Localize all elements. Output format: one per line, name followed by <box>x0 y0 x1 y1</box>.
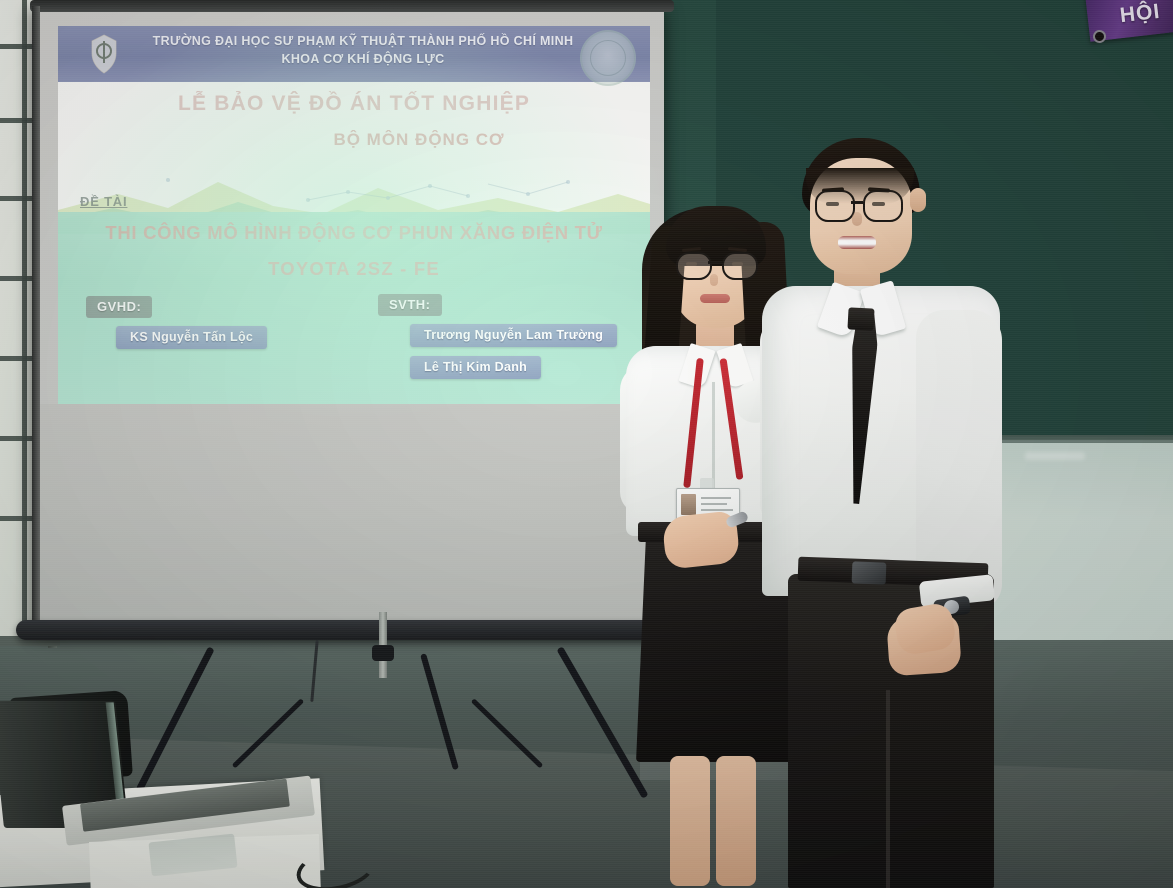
lips <box>700 294 730 303</box>
advisor-label: GVHD: <box>86 296 152 318</box>
black-trousers <box>788 574 994 888</box>
topic-line-2: TOYOTA 2SZ - FE <box>58 258 650 280</box>
student-name-2: Lê Thị Kim Danh <box>410 356 541 379</box>
badge-photo <box>681 494 696 515</box>
leg-left <box>670 756 710 886</box>
screen-top-rail <box>30 0 674 12</box>
belt-buckle <box>852 561 887 584</box>
students-label: SVTH: <box>378 294 442 316</box>
photo-scene: HỘI TRƯỜNG ĐẠI HỌC SƯ PHẠM KỸ THUẬT THÀN… <box>0 0 1173 888</box>
advisor-name: KS Nguyễn Tấn Lộc <box>116 326 267 349</box>
ear <box>910 188 926 212</box>
banner-text: HỘI <box>1119 0 1162 28</box>
tripod-hub <box>372 645 394 661</box>
person-male-student <box>770 130 1010 888</box>
trouser-seam <box>886 690 890 888</box>
de-tai-label: ĐỀ TÀI <box>80 194 127 209</box>
topic-line-1: THI CÔNG MÔ HÌNH ĐỘNG CƠ PHUN XĂNG ĐIỆN … <box>58 222 650 244</box>
wall-smudge <box>1025 452 1085 460</box>
slide-title: LỄ BẢO VỆ ĐỒ ÁN TỐT NGHIỆP <box>58 92 650 116</box>
projected-slide: TRƯỜNG ĐẠI HỌC SƯ PHẠM KỸ THUẬT THÀNH PH… <box>58 26 650 404</box>
smiling-mouth <box>838 236 876 249</box>
university-crest-logo <box>82 31 126 77</box>
screen-bottom-rail <box>16 620 680 640</box>
slide-header-line2: KHOA CƠ KHÍ ĐỘNG LỰC <box>128 52 598 66</box>
leg-right <box>716 756 756 886</box>
screen-unlit-area <box>40 404 662 624</box>
nose <box>852 212 862 226</box>
slide-subtitle: BỘ MÔN ĐỘNG CƠ <box>58 130 650 150</box>
nose <box>710 274 718 286</box>
student-name-1: Trương Nguyễn Lam Trường <box>410 324 617 347</box>
necktie-knot <box>847 307 874 330</box>
slide-header-line1: TRƯỜNG ĐẠI HỌC SƯ PHẠM KỸ THUẬT THÀNH PH… <box>128 34 598 48</box>
screen-left-edge <box>32 6 40 630</box>
